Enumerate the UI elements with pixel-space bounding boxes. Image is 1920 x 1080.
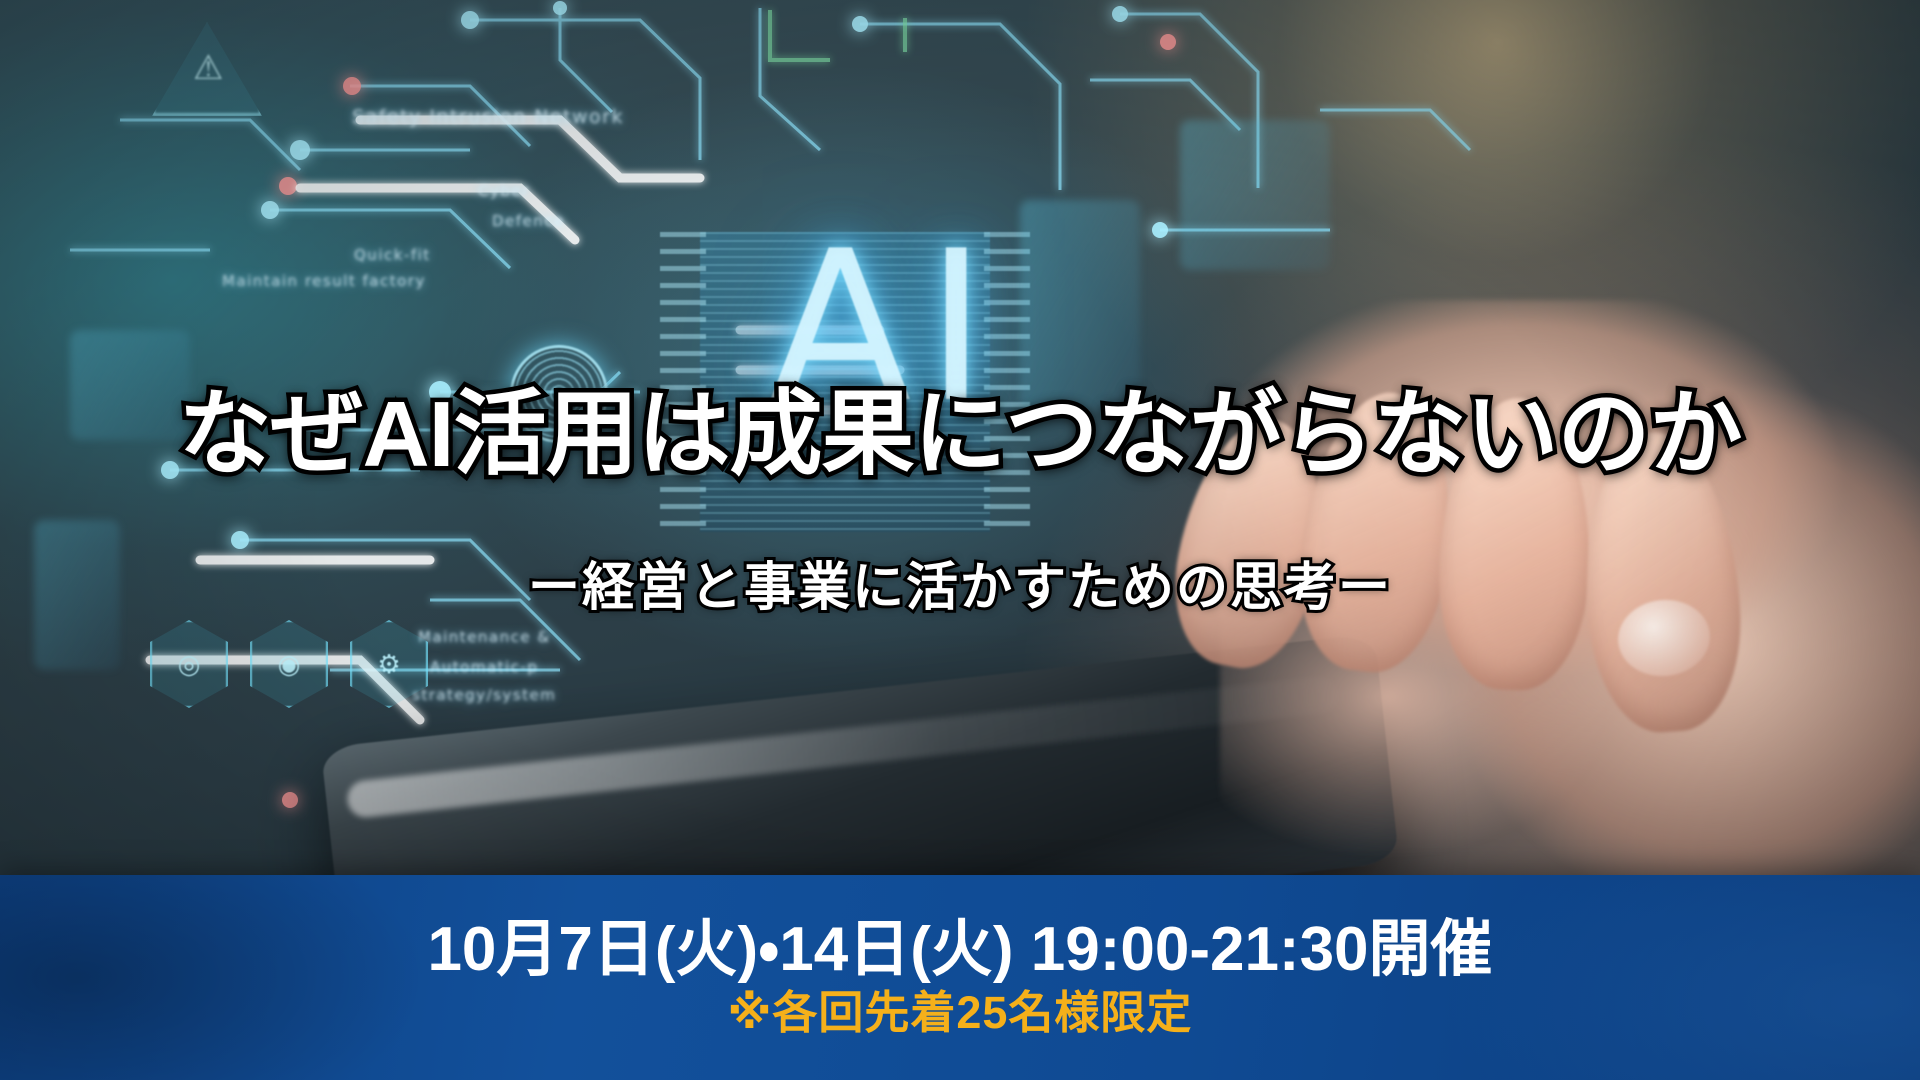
headline-container: なぜAI活用は成果につながらないのか: [0, 388, 1920, 481]
page-title: なぜAI活用は成果につながらないのか: [179, 388, 1742, 481]
page-subtitle: ー経営と事業に活かすための思考ー: [528, 545, 1392, 620]
schedule-banner: 10月7日(火)・14日(火) 19:00-21:30開催 ※各回先着25名様限…: [0, 875, 1920, 1080]
seminar-banner: ⚠ AI Safety Intrusion Network Cyber Defe…: [0, 0, 1920, 1080]
event-date-text: 10月7日(火)・14日(火) 19:00-21:30開催: [427, 917, 1492, 984]
capacity-note-text: ※各回先着25名様限定: [728, 988, 1193, 1038]
subheadline-container: ー経営と事業に活かすための思考ー: [0, 545, 1920, 620]
